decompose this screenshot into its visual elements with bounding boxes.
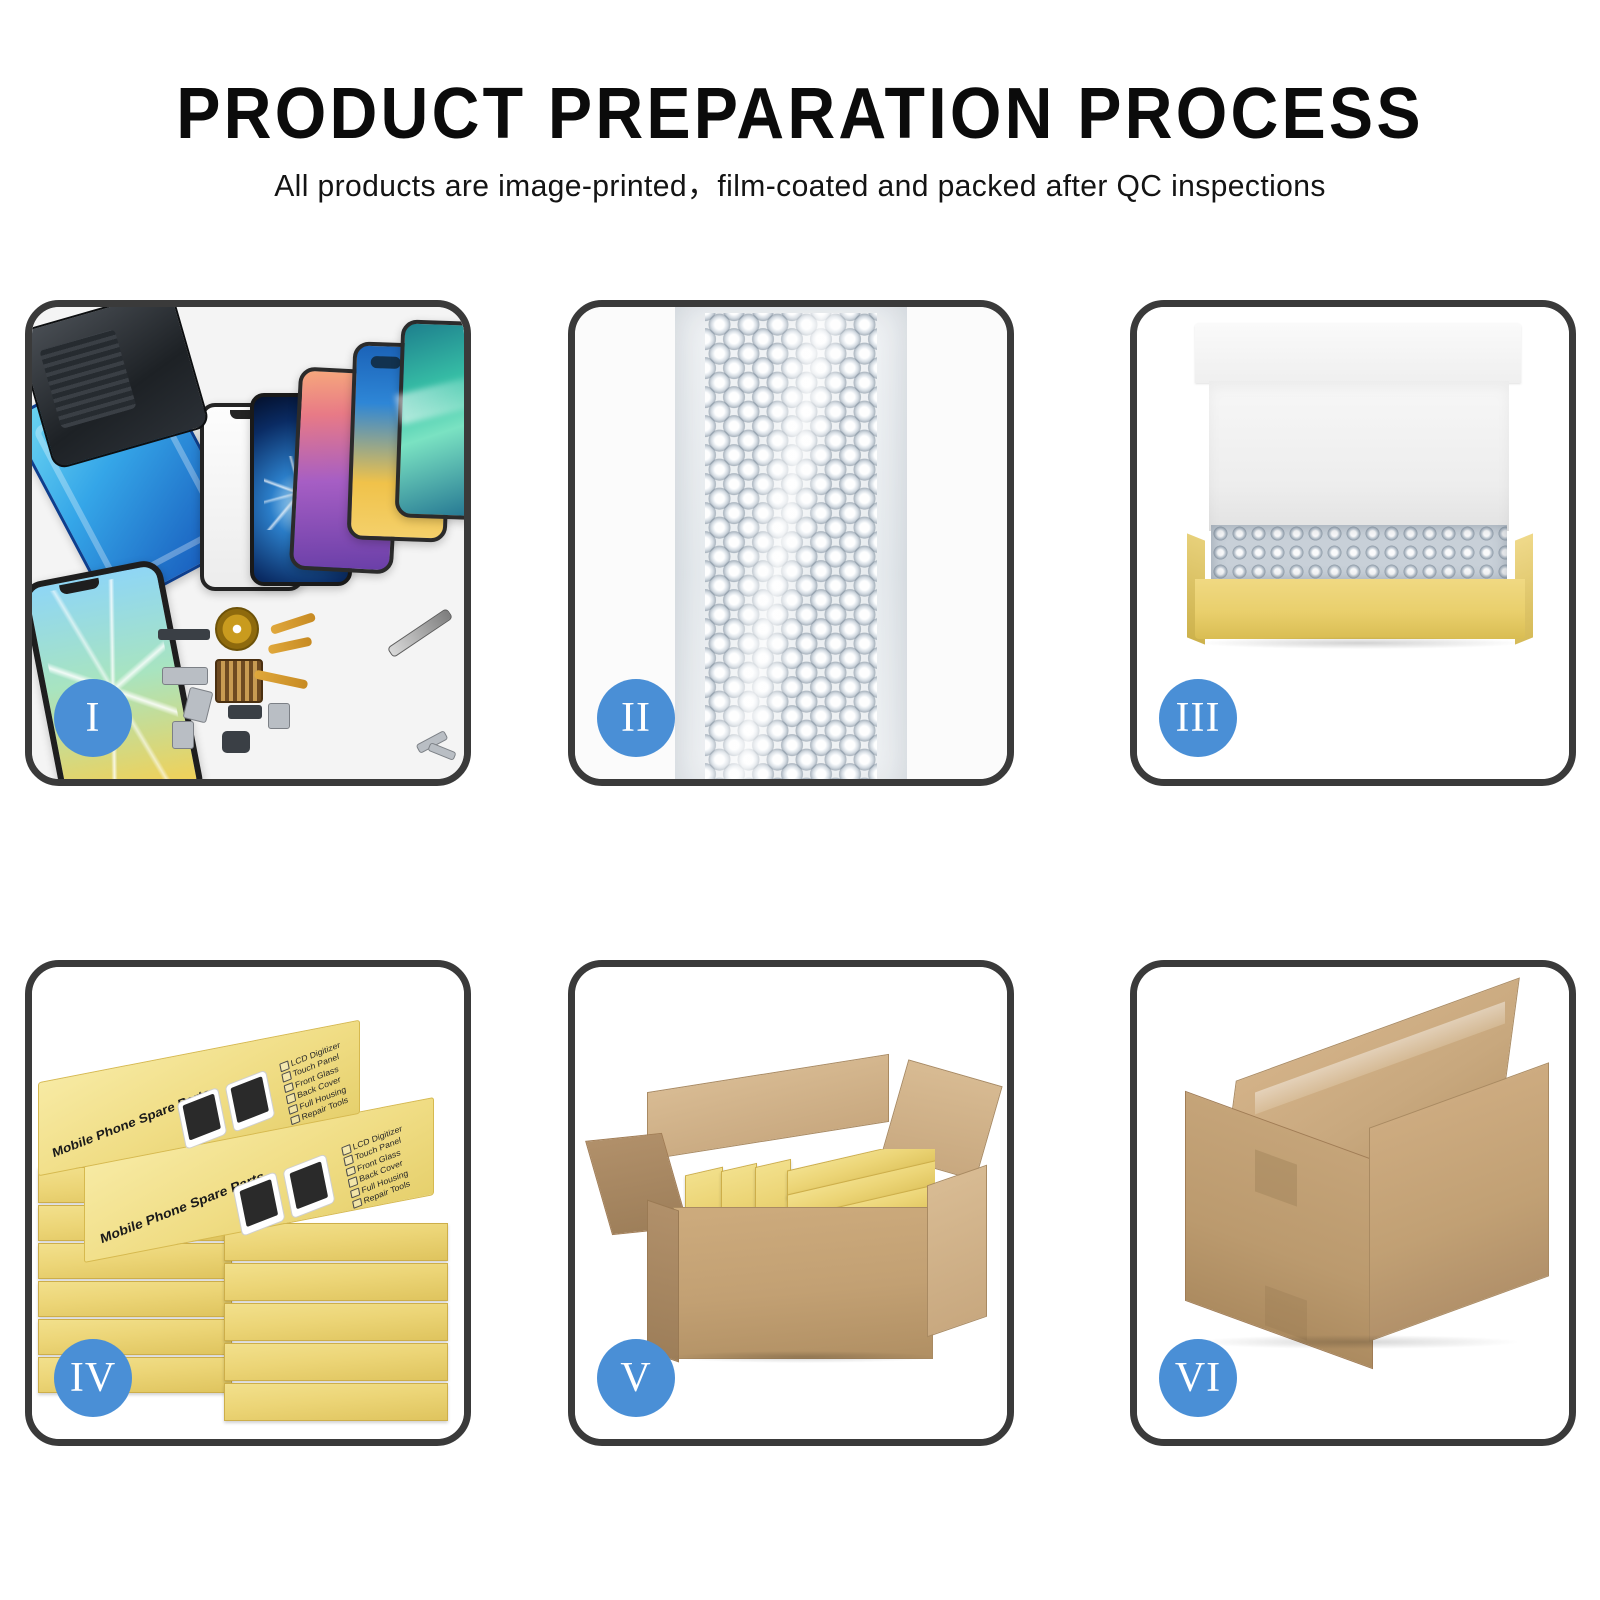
step-badge-5: V [597,1339,675,1417]
bubble-wrap-package [675,307,907,779]
inner-box-front-wall [1195,579,1525,639]
teal-phone-display [395,319,464,520]
sim-tray-part [172,721,194,749]
step-badge-4: IV [54,1339,132,1417]
step-2-image: II [575,307,1007,779]
step-badge-2: II [597,679,675,757]
step-1-image: I [32,307,464,779]
vibrator-part [268,703,290,729]
inner-box-lid-face [1209,381,1509,531]
retail-box-2-checklist: LCD Digitizer Touch Panel Front Glass Ba… [341,1123,414,1211]
connector-part-a [162,667,208,685]
inner-box-lid-back [1195,323,1521,383]
sealed-carton-shadow [1197,1335,1517,1349]
carton-shadow [671,1351,933,1363]
process-step-4[interactable]: Mobile Phone Spare Parts LCD Digitizer T… [25,960,471,1446]
carton-left-face [647,1199,679,1362]
process-step-6[interactable]: VI [1130,960,1576,1446]
step-6-image: VI [1137,967,1569,1439]
step-badge-1: I [54,679,132,757]
step-3-image: III [1137,307,1569,779]
ic-chip-part [215,659,263,703]
process-step-2[interactable]: II [568,300,1014,786]
inner-box-shadow [1201,637,1519,649]
bubble-wrap-sheen [705,313,877,779]
process-step-3[interactable]: III [1130,300,1576,786]
step-badge-6: VI [1159,1339,1237,1417]
speaker-part [222,731,250,753]
process-step-1[interactable]: I [25,300,471,786]
carton-right-face [927,1165,987,1338]
retail-box-1-phone-image-b [225,1069,276,1132]
retail-box-1-checklist: LCD Digitizer Touch Panel Front Glass Ba… [279,1040,352,1128]
step-4-image: Mobile Phone Spare Parts LCD Digitizer T… [32,967,464,1439]
retail-box-2-phone-image-b [282,1153,335,1219]
earpiece-mesh-part [158,629,210,640]
step-5-image: V [575,967,1007,1439]
bubble-wrapped-contents [1211,525,1507,581]
wireless-charging-coil-part [215,607,259,651]
process-step-grid: I II III [0,0,1600,1600]
carton-front-face [673,1207,933,1359]
camera-module-part [228,705,262,719]
step-badge-3: III [1159,679,1237,757]
process-step-5[interactable]: V [568,960,1014,1446]
